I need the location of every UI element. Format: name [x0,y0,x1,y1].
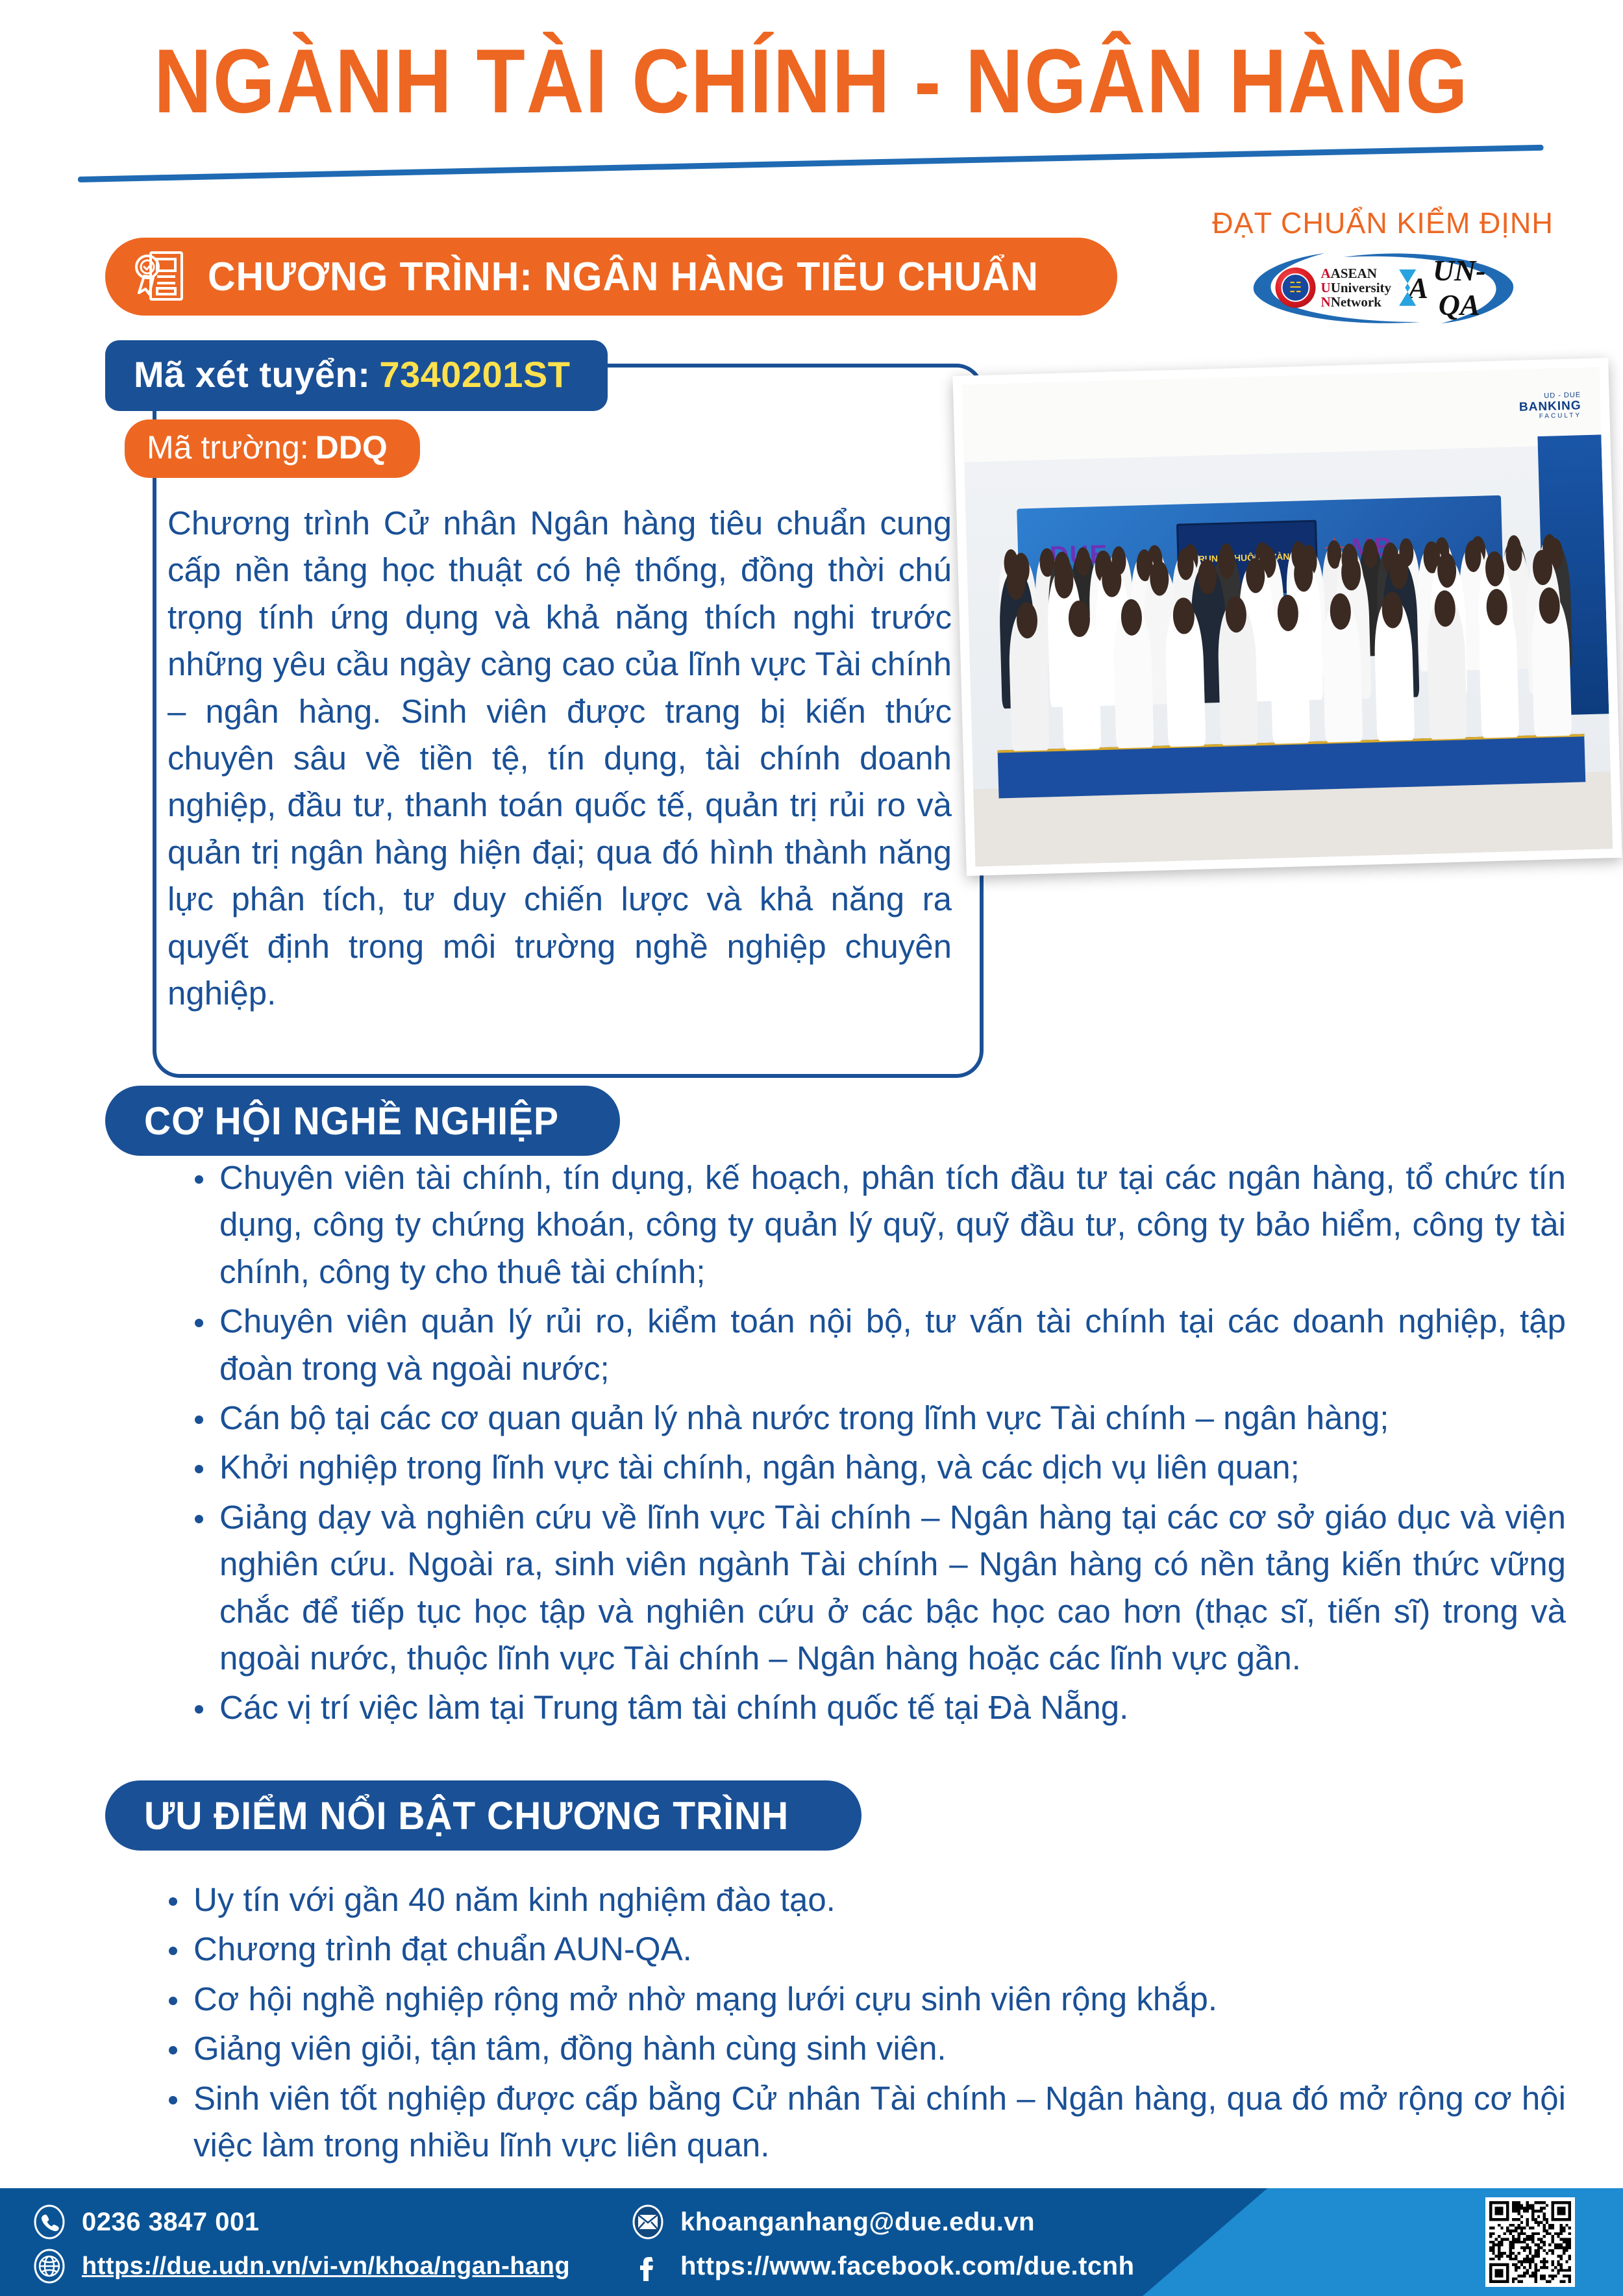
career-list-item: Chuyên viên quản lý rủi ro, kiểm toán nộ… [190,1298,1566,1392]
career-list-item: Khởi nghiệp trong lĩnh vực tài chính, ng… [190,1444,1566,1491]
certificate-icon [131,247,186,306]
photo-person-head [1172,597,1195,634]
career-opportunity-list: Chuyên viên tài chính, tín dụng, kế hoạc… [190,1154,1566,1734]
program-badge: CHƯƠNG TRÌNH: NGÂN HÀNG TIÊU CHUẨN [105,238,1117,316]
photo-person-head [1363,539,1378,568]
photo-person-head [1068,601,1090,638]
footer-phone[interactable]: 0236 3847 001 [31,2204,259,2240]
accreditation-label: ĐẠT CHUẨN KIỂM ĐỊNH [1182,206,1584,240]
photo-ceiling [962,367,1602,462]
qr-code-matrix [1489,2201,1571,2283]
globe-icon [31,2248,68,2284]
career-list-item: Giảng dạy và nghiên cứu về lĩnh vực Tài … [190,1494,1566,1682]
advantage-list-item: Chương trình đạt chuẩn AUN-QA. [164,1926,1566,1973]
admission-code-label: Mã xét tuyển: [134,354,370,395]
footer-email[interactable]: khoanganhang@due.edu.vn [630,2204,1035,2240]
aun-qa-wordmark: AUN-QA [1399,253,1490,322]
aun-word-network: NNetwork [1321,295,1392,309]
photo-person-head [1533,550,1553,586]
footer-website[interactable]: https://due.udn.vn/vi-vn/khoa/ngan-hang [31,2248,570,2284]
contact-footer: 0236 3847 001 https://due.udn.vn/vi-vn/k… [0,2188,1623,2296]
admission-code-value: 7340201ST [379,354,570,395]
footer-facebook[interactable]: https://www.facebook.com/due.tcnh [630,2248,1135,2284]
program-photo: DUE ✦MB RUNG CHUÔNG VÀNG UD - DUE BANKIN… [952,358,1622,876]
photo-person-head [1341,555,1361,591]
advantage-list-item: Sinh viên tốt nghiệp được cấp bằng Cử nh… [164,2075,1566,2169]
photo-faculty-logo: UD - DUE BANKING FACULTY [1518,392,1581,421]
qr-code[interactable] [1485,2197,1575,2287]
footer-facebook-text: https://www.facebook.com/due.tcnh [680,2252,1135,2281]
photo-student-group [992,532,1584,760]
program-badge-label: CHƯƠNG TRÌNH: NGÂN HÀNG TIÊU CHUẨN [208,254,1039,300]
photo-person-head [1102,562,1122,597]
section-header-advantages-label: ƯU ĐIỂM NỔI BẬT CHƯƠNG TRÌNH [144,1793,789,1838]
advantage-list-item: Uy tín với gần 40 năm kinh nghiệm đào tạ… [164,1877,1566,1923]
section-header-advantages: ƯU ĐIỂM NỔI BẬT CHƯƠNG TRÌNH [105,1780,861,1851]
school-code-badge: Mã trường:DDQ [125,419,420,478]
facebook-icon [630,2248,666,2284]
career-list-item: Chuyên viên tài chính, tín dụng, kế hoạc… [190,1154,1566,1295]
title-divider [78,145,1544,182]
program-description: Chương trình Cử nhân Ngân hàng tiêu chuẩ… [167,500,952,1017]
page-title: NGÀNH TÀI CHÍNH - NGÂN HÀNG [154,36,1468,127]
title-banner: NGÀNH TÀI CHÍNH - NGÂN HÀNG [0,19,1623,143]
aun-word-university: UUniversity [1321,281,1392,295]
school-code-value: DDQ [316,429,388,466]
program-advantage-list: Uy tín với gần 40 năm kinh nghiệm đào tạ… [164,1877,1566,2171]
footer-website-text: https://due.udn.vn/vi-vn/khoa/ngan-hang [82,2252,570,2280]
aun-qa-logo: ☵ AASEAN UUniversity NNetwork AUN-QA [1246,249,1519,326]
career-list-item: Cán bộ tại các cơ quan quản lý nhà nước … [190,1395,1566,1441]
footer-email-text: khoanganhang@due.edu.vn [680,2208,1035,2237]
phone-icon [31,2204,68,2240]
advantage-list-item: Giảng viên giỏi, tận tâm, đồng hành cùng… [164,2025,1566,2072]
section-header-career-label: CƠ HỘI NGHỀ NGHIỆP [144,1099,559,1143]
advantage-list-item: Cơ hội nghề nghiệp rộng mở nhờ mạng lưới… [164,1976,1566,2023]
envelope-icon [630,2204,666,2240]
asean-seal-icon: ☵ [1276,268,1316,308]
aun-word-asean: AASEAN [1321,266,1392,281]
career-list-item: Các vị trí việc làm tại Trung tâm tài ch… [190,1684,1566,1731]
footer-phone-text: 0236 3847 001 [82,2208,259,2237]
section-header-career: CƠ HỘI NGHỀ NGHIỆP [105,1086,620,1156]
admission-code-badge: Mã xét tuyển:7340201ST [105,340,608,411]
school-code-label: Mã trường: [147,429,309,466]
accreditation-block: ĐẠT CHUẨN KIỂM ĐỊNH ☵ AASEAN UUniversity… [1182,206,1584,326]
